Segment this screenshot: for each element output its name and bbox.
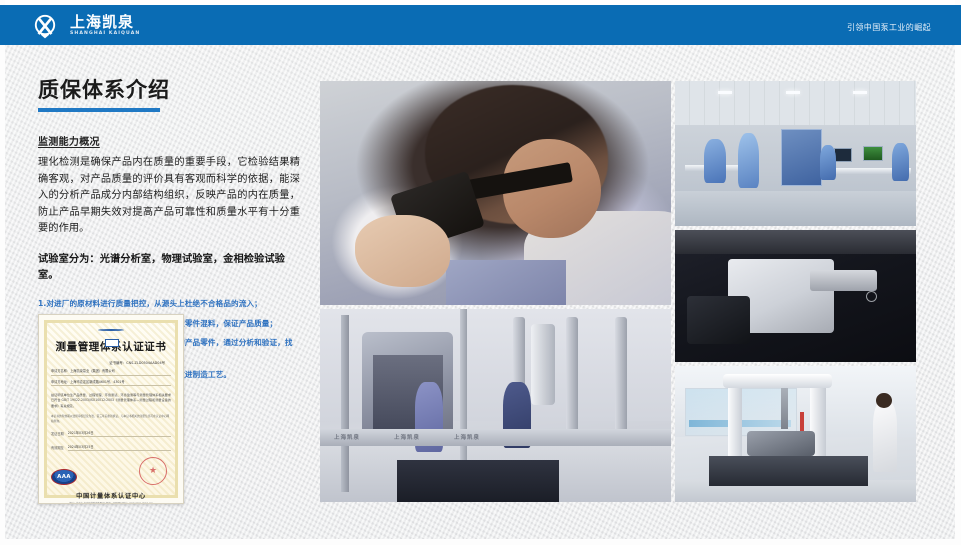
aaa-credit-badge: AAA (51, 469, 77, 485)
photo-detail-monitor (834, 148, 852, 162)
photo-detail-column (615, 317, 627, 437)
red-official-seal-icon (139, 457, 167, 485)
photo-detail-technician (873, 401, 897, 472)
kaiquan-logo-mark (34, 13, 64, 39)
certificate-sign-value: 2024年03月25日 (68, 444, 171, 451)
photo-detail-shirt (446, 260, 565, 305)
certificate-signature-row: 发证日期 2021年03月26日 (51, 430, 171, 437)
photo-detail-blue-cabinet (781, 129, 822, 186)
photo-detail-technician-head (876, 393, 892, 408)
certificate-issuer: 中国计量体系认证中心 (76, 491, 146, 500)
certificate-field: 申请方地址：上海市嘉定区新成路4601号、4301号 (51, 379, 171, 387)
photo-detail-glass-frame (341, 315, 349, 493)
header-tagline: 引领中国泵工业的崛起 (847, 22, 931, 33)
photo-detail-instrument-arm (810, 270, 877, 291)
certificate-content: 测量管理体系认证证书 证书编号：CNS-ZLD0504AAD04号 申请方名称：… (51, 325, 171, 495)
page-margin-right (955, 0, 961, 545)
photo-detail-lens-housing (687, 296, 750, 344)
list-item: 1.对进厂的原材料进行质量把控，从源头上杜绝不合格品的流入； (38, 298, 300, 310)
photo-detail-cmm-beam (723, 374, 831, 388)
slide-canvas: 上海凯泉 SHANGHAI KAIQUAN 引领中国泵工业的崛起 质保体系介绍 … (0, 0, 961, 545)
photo-cmm-measuring: 三坐标测量机检测 (675, 366, 916, 502)
barrier-brand-mark: 上海凯泉 (454, 433, 480, 441)
header-bar: 上海凯泉 SHANGHAI KAIQUAN 引领中国泵工业的崛起 (0, 5, 961, 45)
photo-detail-cmm-probe (781, 388, 788, 429)
photo-detail-bench-top (675, 230, 916, 254)
body-paragraph: 理化检测是确保产品内在质量的重要手段，它检验结果精确客观，对产品质量的评价具有客… (38, 155, 300, 238)
photo-detail-ceiling-lamp (718, 91, 732, 94)
photo-detail-green-screen (863, 146, 883, 161)
certificate-signature-row: 有效期至 2024年03月25日 (51, 444, 171, 451)
photo-detail-column (566, 317, 578, 437)
photo-detail-person (704, 139, 726, 183)
photo-detail-hand (355, 215, 450, 287)
photo-collage: 工程师使用金相显微镜观测 理化检测实验室全景 蔡司显微镜设备 (320, 81, 916, 502)
zeiss-brand-icon (866, 291, 877, 302)
photo-tensile-testing: 上海凯泉 上海凯泉 上海凯泉 物理试验室拉伸试验机 (320, 309, 671, 502)
certificate-footer: 地址：北京市·海淀区学院南路86号 邮编：100082 网址：www.cmsc-… (69, 502, 152, 504)
page-margin-left (0, 0, 5, 545)
title-underline-rule (38, 108, 160, 112)
certificate-badges: AAA (51, 457, 171, 485)
photo-detail-measured-part (747, 431, 814, 455)
certificate-field: 申请方名称：上海凯泉泵业（集团）有限公司 (51, 368, 171, 376)
certificate-sign-value: 2021年03月26日 (68, 430, 171, 437)
lab-rooms-line: 试验室分为：光谱分析室，物理试验室，金相检验试验室。 (38, 252, 300, 285)
certificate-body-text: 兹证明该单位生产品质量、过程管理、环境测试、环境监测等与测量管理体系相关要求已符… (51, 393, 171, 409)
photo-detail-ceiling (675, 81, 916, 125)
certificate-sign-label: 发证日期 (51, 431, 64, 436)
photo-detail-person (892, 143, 909, 181)
barrier-brand-mark: 上海凯泉 (334, 433, 360, 441)
certificate-image: 测量管理体系认证证书 证书编号：CNS-ZLD0504AAD04号 申请方名称：… (38, 314, 184, 504)
logo-wordmark: 上海凯泉 SHANGHAI KAIQUAN (70, 15, 140, 37)
logo-name-en: SHANGHAI KAIQUAN (70, 32, 140, 37)
photo-detail-machine-base (397, 460, 558, 502)
photo-detail-ceiling-lamp (786, 91, 800, 94)
company-logo: 上海凯泉 SHANGHAI KAIQUAN (34, 12, 140, 39)
page-margin-bottom (0, 539, 961, 545)
certificate-sign-label: 有效期至 (51, 445, 64, 450)
photo-detail-safety-barrier: 上海凯泉 上海凯泉 上海凯泉 (320, 429, 671, 446)
barrier-brand-mark: 上海凯泉 (394, 433, 420, 441)
certificate-number: 证书编号：CNS-ZLD0504AAD04号 (109, 360, 165, 365)
photo-detail-hydraulic-ram (531, 324, 556, 405)
page-title: 质保体系介绍 (38, 78, 300, 103)
photo-detail-floor (675, 191, 916, 226)
photo-microscope-operator: 工程师使用金相显微镜观测 (320, 81, 671, 305)
photo-zeiss-microscope: 蔡司显微镜设备 (675, 230, 916, 362)
certification-emblem-icon (98, 329, 124, 331)
logo-name-cn: 上海凯泉 (70, 15, 140, 30)
photo-detail-granite-table (709, 456, 868, 486)
section-subheading: 监测能力概况 (38, 133, 300, 148)
photo-detail-person (820, 145, 837, 180)
photo-lab-room: 理化检测实验室全景 (675, 81, 916, 226)
photo-detail-cmm-gantry (728, 380, 742, 467)
photo-detail-person (738, 133, 760, 188)
photo-detail-ceiling-lamp (853, 91, 867, 94)
certificate-note: 本证书的有效期以监督审核结论为准，需三年后重新换证，与本证书相关的注册信息可在认… (51, 414, 171, 423)
